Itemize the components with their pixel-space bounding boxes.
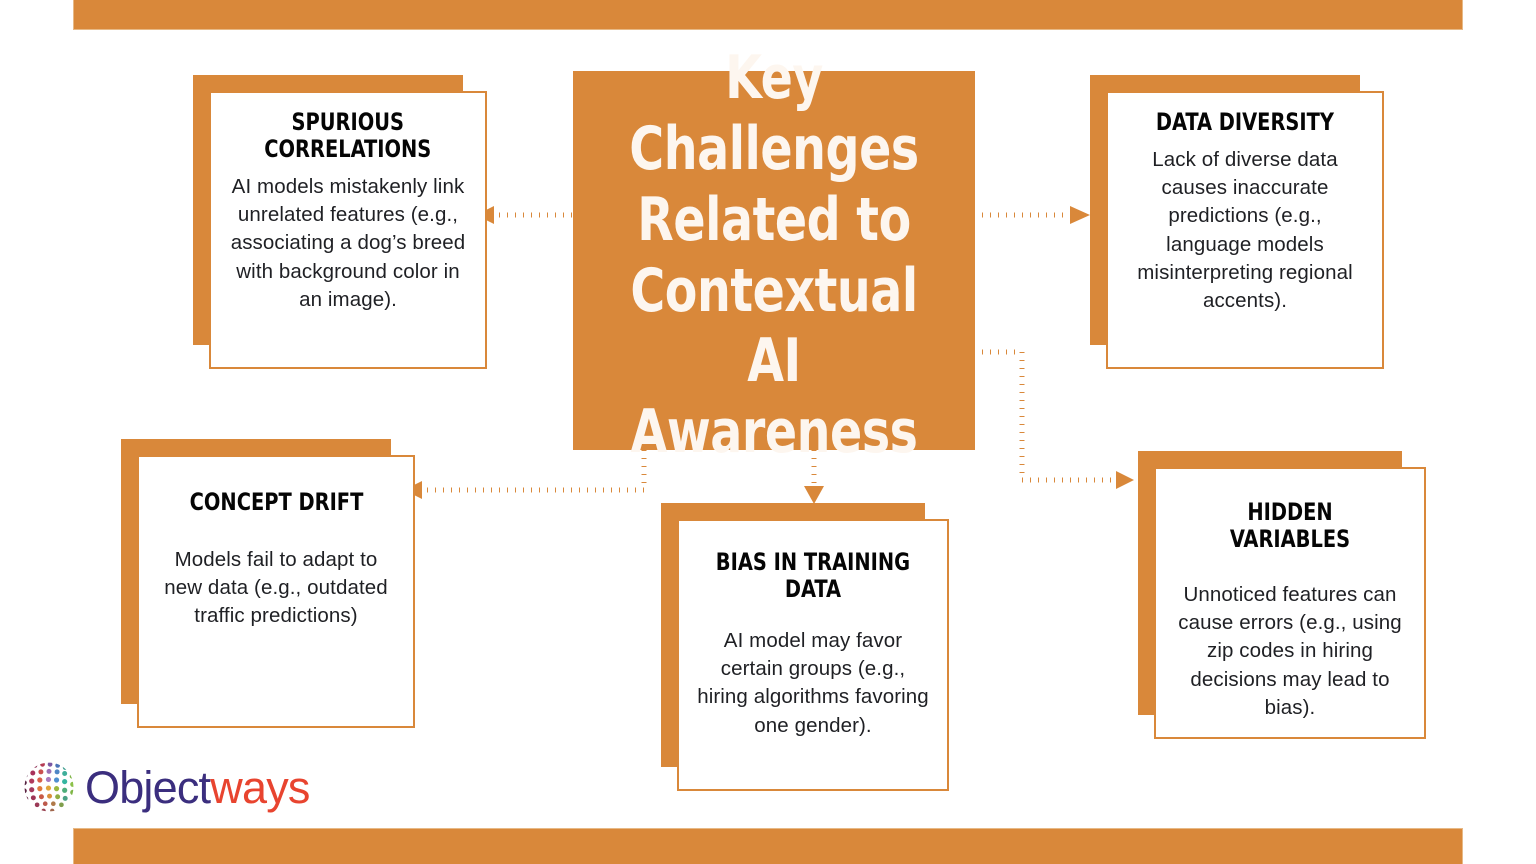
connector-hub-to-spurious-correlations [474,203,576,227]
card-body: AI models mistakenly link unrelated feat… [229,173,467,314]
card-spurious-correlations[interactable]: SPURIOUS CORRELATIONS AI models mistaken… [193,75,489,370]
hub-title: Key Challenges Related to Contextual AI … [609,43,938,468]
card-body: AI model may favor certain groups (e.g.,… [697,627,929,740]
top-accent-bar [73,0,1463,30]
card-title: SPURIOUS CORRELATIONS [264,109,431,163]
objectways-logo[interactable]: Objectways [22,760,310,814]
card-title: CONCEPT DRIFT [189,489,363,516]
connector-hub-to-data-diversity [972,203,1094,227]
card-body: Unnoticed features can cause errors (e.g… [1174,581,1406,722]
logo-word-primary: Object [85,762,210,813]
card-bias-in-training-data[interactable]: BIAS IN TRAINING DATA AI model may favor… [661,503,951,793]
logo-wordmark: Objectways [85,765,310,810]
card-body: Lack of diverse data causes inaccurate p… [1126,146,1364,316]
card-title: BIAS IN TRAINING DATA [716,549,910,603]
dotted-globe-icon [22,760,76,814]
card-face[interactable]: CONCEPT DRIFT Models fail to adapt to ne… [137,455,415,728]
card-title: HIDDEN VARIABLES [1186,499,1395,553]
card-body: Models fail to adapt to new data (e.g., … [157,546,395,631]
card-hidden-variables[interactable]: HIDDEN VARIABLES Unnoticed features can … [1138,451,1428,741]
card-data-diversity[interactable]: DATA DIVERSITY Lack of diverse data caus… [1090,75,1386,370]
card-face[interactable]: HIDDEN VARIABLES Unnoticed features can … [1154,467,1426,739]
card-face[interactable]: SPURIOUS CORRELATIONS AI models mistaken… [209,91,487,369]
card-face[interactable]: BIAS IN TRAINING DATA AI model may favor… [677,519,949,791]
hub-center-panel: Key Challenges Related to Contextual AI … [573,71,975,450]
card-face[interactable]: DATA DIVERSITY Lack of diverse data caus… [1106,91,1384,369]
card-concept-drift[interactable]: CONCEPT DRIFT Models fail to adapt to ne… [121,439,417,729]
bottom-accent-bar [73,828,1463,864]
infographic-canvas: Key Challenges Related to Contextual AI … [0,0,1536,864]
card-title: DATA DIVERSITY [1156,109,1334,136]
logo-word-secondary: ways [210,762,309,813]
